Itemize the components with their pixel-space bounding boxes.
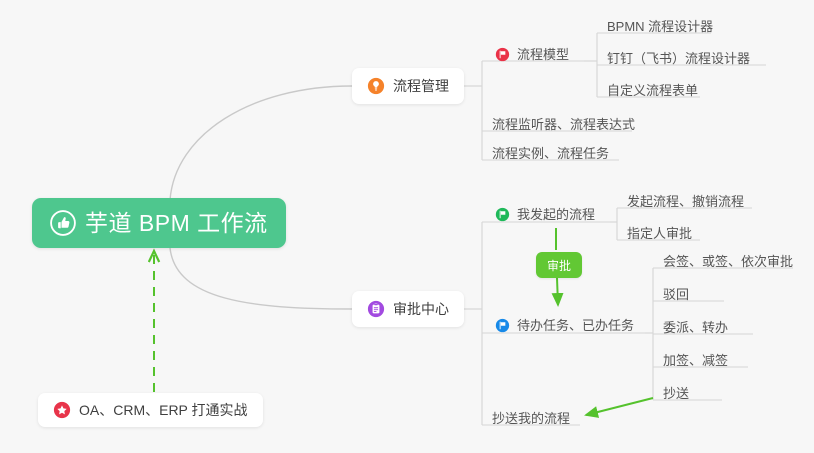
node-label-assignee-approval: 指定人审批 — [627, 227, 692, 240]
annotation-chip-approval-label: 审批 — [547, 257, 571, 274]
node-process-model[interactable]: 流程模型 — [493, 42, 573, 66]
branch-label-process-management: 流程管理 — [393, 79, 449, 93]
node-custom-process-form[interactable]: 自定义流程表单 — [605, 78, 702, 102]
branch-label-approval-center: 审批中心 — [393, 302, 449, 316]
thumbs-up-circle-icon — [50, 210, 76, 236]
node-label-process-model: 流程模型 — [517, 48, 569, 61]
node-delegate-transfer[interactable]: 委派、转办 — [661, 315, 732, 339]
arrow-cc-to-my-processes — [586, 398, 653, 415]
node-add-remove-sign[interactable]: 加签、减签 — [661, 348, 732, 372]
node-label-cc: 抄送 — [663, 387, 689, 400]
node-dingtalk-feishu-designer[interactable]: 钉钉（飞书）流程设计器 — [605, 46, 754, 70]
node-bpmn-designer[interactable]: BPMN 流程设计器 — [605, 14, 717, 38]
node-start-cancel-process[interactable]: 发起流程、撤销流程 — [625, 189, 748, 213]
node-label-delegate-transfer: 委派、转办 — [663, 321, 728, 334]
flag-circle-icon — [495, 207, 510, 222]
node-label-countersign-orsign-sequential: 会签、或签、依次审批 — [663, 255, 793, 268]
node-cc[interactable]: 抄送 — [661, 381, 693, 405]
node-process-listener-expression[interactable]: 流程监听器、流程表达式 — [490, 112, 639, 136]
floating-node-oa-crm-erp[interactable]: OA、CRM、ERP 打通实战 — [38, 393, 263, 427]
node-label-add-remove-sign: 加签、减签 — [663, 354, 728, 367]
node-assignee-approval[interactable]: 指定人审批 — [625, 221, 696, 245]
node-label-reject: 驳回 — [663, 288, 689, 301]
lightbulb-circle-icon — [367, 77, 385, 95]
root-node-label: 芋道 BPM 工作流 — [85, 212, 268, 235]
floating-node-label-oa-crm-erp: OA、CRM、ERP 打通实战 — [79, 403, 248, 417]
mindmap-canvas: 芋道 BPM 工作流 流程管理 流程模型 流程监听器、流程表达式 流程实例、流 — [0, 0, 814, 453]
branch-node-process-management[interactable]: 流程管理 — [352, 68, 464, 104]
node-reject[interactable]: 驳回 — [661, 282, 693, 306]
branch-node-approval-center[interactable]: 审批中心 — [352, 291, 464, 327]
flag-circle-icon — [495, 318, 510, 333]
clipboard-circle-icon — [367, 300, 385, 318]
node-label-process-listener-expression: 流程监听器、流程表达式 — [492, 118, 635, 131]
node-todo-done-tasks[interactable]: 待办任务、已办任务 — [493, 313, 638, 337]
node-label-cc-to-me-processes: 抄送我的流程 — [492, 412, 570, 425]
star-circle-icon — [53, 401, 71, 419]
node-my-started-processes[interactable]: 我发起的流程 — [493, 202, 599, 226]
node-cc-to-me-processes[interactable]: 抄送我的流程 — [490, 406, 574, 430]
node-label-my-started-processes: 我发起的流程 — [517, 208, 595, 221]
root-node[interactable]: 芋道 BPM 工作流 — [32, 198, 286, 248]
edge-root-to-process-management — [170, 86, 352, 200]
node-label-bpmn-designer: BPMN 流程设计器 — [607, 20, 713, 33]
node-label-todo-done-tasks: 待办任务、已办任务 — [517, 319, 634, 332]
annotation-chip-approval: 审批 — [536, 252, 582, 278]
flag-circle-icon — [495, 47, 510, 62]
node-label-process-instance-task: 流程实例、流程任务 — [492, 147, 609, 160]
node-process-instance-task[interactable]: 流程实例、流程任务 — [490, 141, 613, 165]
node-label-dingtalk-feishu-designer: 钉钉（飞书）流程设计器 — [607, 52, 750, 65]
node-label-custom-process-form: 自定义流程表单 — [607, 84, 698, 97]
arrow-approval-flow-lower — [557, 278, 558, 305]
node-countersign-orsign-sequential[interactable]: 会签、或签、依次审批 — [661, 249, 797, 273]
edge-root-to-approval-center — [170, 248, 352, 309]
node-label-start-cancel-process: 发起流程、撤销流程 — [627, 195, 744, 208]
